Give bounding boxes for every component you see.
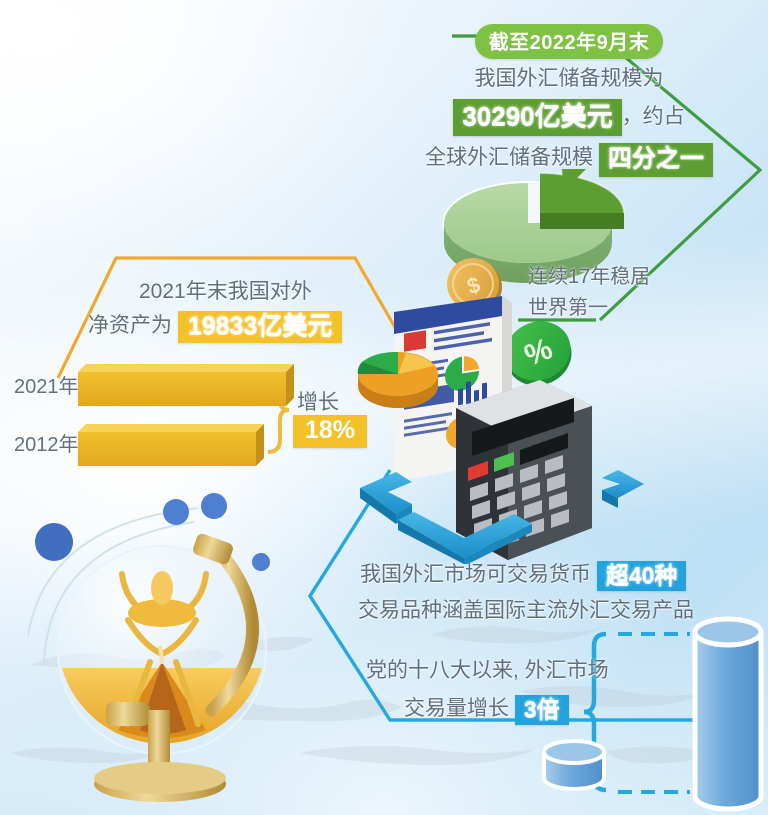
blue-line-2: 交易品种涵盖国际主流外汇交易产品: [358, 594, 694, 624]
blue-highlight-currencies: 超40种: [597, 561, 687, 591]
blue-highlight-growth: 3倍: [515, 695, 569, 725]
cylinder-before: [540, 736, 608, 796]
bar-label-2012: 2012年: [14, 428, 79, 457]
green-pill-label: 截至2022年9月末: [475, 24, 664, 59]
blue-line-1: 我国外汇市场可交易货币 超40种: [360, 556, 686, 590]
green-text-block: 截至2022年9月末 我国外汇储备规模为 30290亿美元，约占 全球外汇储备规…: [404, 24, 734, 177]
infographic-canvas: 截至2022年9月末 我国外汇储备规模为 30290亿美元，约占 全球外汇储备规…: [0, 0, 768, 815]
growth-label: 增长: [297, 386, 339, 416]
bar-2021: [78, 364, 294, 406]
yellow-line2-prefix: 净资产为: [88, 314, 172, 337]
arrow-right-icon: [602, 470, 644, 508]
yellow-line-2: 净资产为 19833亿美元: [88, 306, 342, 342]
gold-bar-chart: [78, 358, 308, 468]
blue-line1-prefix: 我国外汇市场可交易货币: [360, 563, 591, 586]
blue-line-4: 交易量增长 3倍: [404, 690, 569, 724]
arrow-left-icon: [360, 472, 412, 524]
bar-2012: [78, 424, 264, 466]
yellow-line-1: 2021年末我国对外: [139, 275, 312, 305]
blue-line-3: 党的十八大以来, 外汇市场: [366, 654, 609, 684]
cylinder-after: [690, 614, 766, 814]
center-illustration: [352, 282, 644, 564]
green-after-amount: ，约占: [622, 105, 685, 128]
green-amount-highlight: 30290亿美元: [453, 99, 621, 136]
blue-line4-prefix: 交易量增长: [404, 697, 509, 720]
bar-label-2021: 2021年: [14, 370, 79, 399]
yellow-amount-highlight: 19833亿美元: [178, 311, 343, 343]
small-pie-icon: [358, 352, 438, 408]
growth-value-highlight: 18%: [293, 415, 367, 448]
green-line-2: 30290亿美元，约占: [404, 99, 734, 136]
gold-hourglass-globe: [10, 486, 310, 806]
green-line-1: 我国外汇储备规模为: [404, 66, 734, 92]
